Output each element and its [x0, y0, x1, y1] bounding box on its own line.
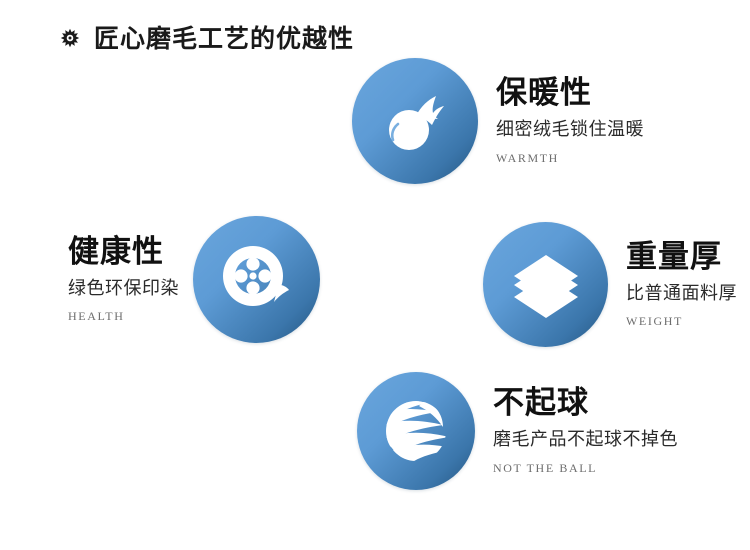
feature-notball-subtitle: 磨毛产品不起球不掉色	[493, 428, 678, 451]
feature-notball-text: 不起球 磨毛产品不起球不掉色 NOT THE BALL	[493, 386, 678, 475]
feature-warmth-subtitle: 细密绒毛锁住温暖	[496, 118, 644, 141]
stacked-layers-icon	[510, 249, 582, 321]
film-reel-icon	[217, 240, 297, 320]
feature-notball-english: NOT THE BALL	[493, 461, 597, 476]
feature-health-english: HEALTH	[68, 309, 125, 324]
feature-notball-title: 不起球	[493, 386, 589, 421]
feature-weight-subtitle: 比普通面料厚	[626, 282, 737, 305]
striped-globe-icon	[379, 394, 453, 468]
feature-health-text: 健康性 绿色环保印染 HEALTH	[68, 235, 179, 324]
feature-warmth[interactable]: 保暖性 细密绒毛锁住温暖 WARMTH	[352, 58, 644, 184]
feature-notball[interactable]: 不起球 磨毛产品不起球不掉色 NOT THE BALL	[357, 372, 678, 490]
feature-health-title: 健康性	[68, 235, 164, 270]
feature-warmth-text: 保暖性 细密绒毛锁住温暖 WARMTH	[496, 76, 644, 165]
feature-weight-title: 重量厚	[626, 240, 722, 275]
flower-ornament-icon	[58, 28, 82, 52]
infographic-page: 匠心磨毛工艺的优越性 保暖性 细密绒毛锁住温暖 WARMTH	[0, 0, 750, 550]
flame-comet-icon	[378, 84, 452, 158]
feature-health[interactable]: 健康性 绿色环保印染 HEALTH	[68, 216, 320, 343]
feature-warmth-english: WARMTH	[496, 151, 559, 166]
feature-notball-circle	[357, 372, 475, 490]
feature-weight[interactable]: 重量厚 比普通面料厚 WEIGHT	[483, 222, 737, 347]
feature-warmth-title: 保暖性	[496, 76, 592, 111]
feature-weight-text: 重量厚 比普通面料厚 WEIGHT	[626, 240, 737, 329]
feature-weight-circle	[483, 222, 608, 347]
feature-health-subtitle: 绿色环保印染	[68, 277, 179, 300]
page-title-text: 匠心磨毛工艺的优越性	[94, 27, 354, 52]
feature-warmth-circle	[352, 58, 478, 184]
page-title: 匠心磨毛工艺的优越性	[58, 27, 354, 52]
feature-weight-english: WEIGHT	[626, 314, 683, 329]
feature-health-circle	[193, 216, 320, 343]
